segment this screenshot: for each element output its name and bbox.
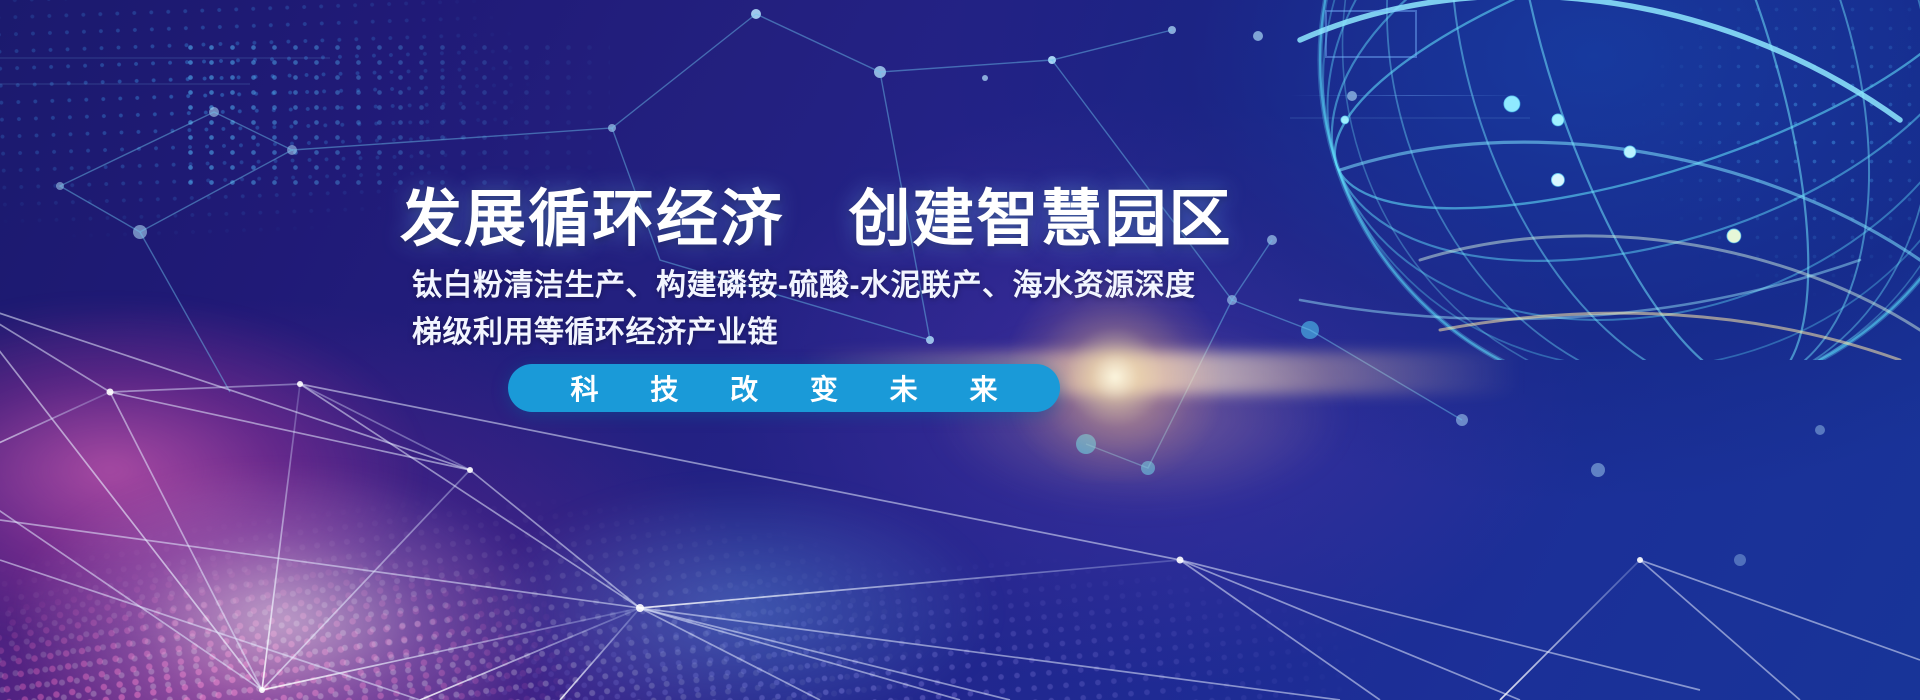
headline-part-2: 创建智慧园区 bbox=[848, 185, 1232, 254]
cta-button[interactable]: 科 技 改 变 未 来 bbox=[508, 364, 1060, 412]
cta-button-label: 科 技 改 变 未 来 bbox=[549, 368, 1020, 408]
subtitle-line-1: 钛白粉清洁生产、构建磷铵-硫酸-水泥联产、海水资源深度 bbox=[412, 262, 1195, 309]
subtitle-line-2: 梯级利用等循环经济产业链 bbox=[412, 309, 1195, 356]
banner-subtitle: 钛白粉清洁生产、构建磷铵-硫酸-水泥联产、海水资源深度 梯级利用等循环经济产业链 bbox=[412, 262, 1195, 356]
banner-content: 发展循环经济 创建智慧园区 钛白粉清洁生产、构建磷铵-硫酸-水泥联产、海水资源深… bbox=[0, 0, 1920, 700]
hero-banner: 发展循环经济 创建智慧园区 钛白粉清洁生产、构建磷铵-硫酸-水泥联产、海水资源深… bbox=[0, 0, 1920, 700]
headline-part-1: 发展循环经济 bbox=[400, 185, 784, 254]
banner-headline: 发展循环经济 创建智慧园区 bbox=[400, 168, 1233, 258]
